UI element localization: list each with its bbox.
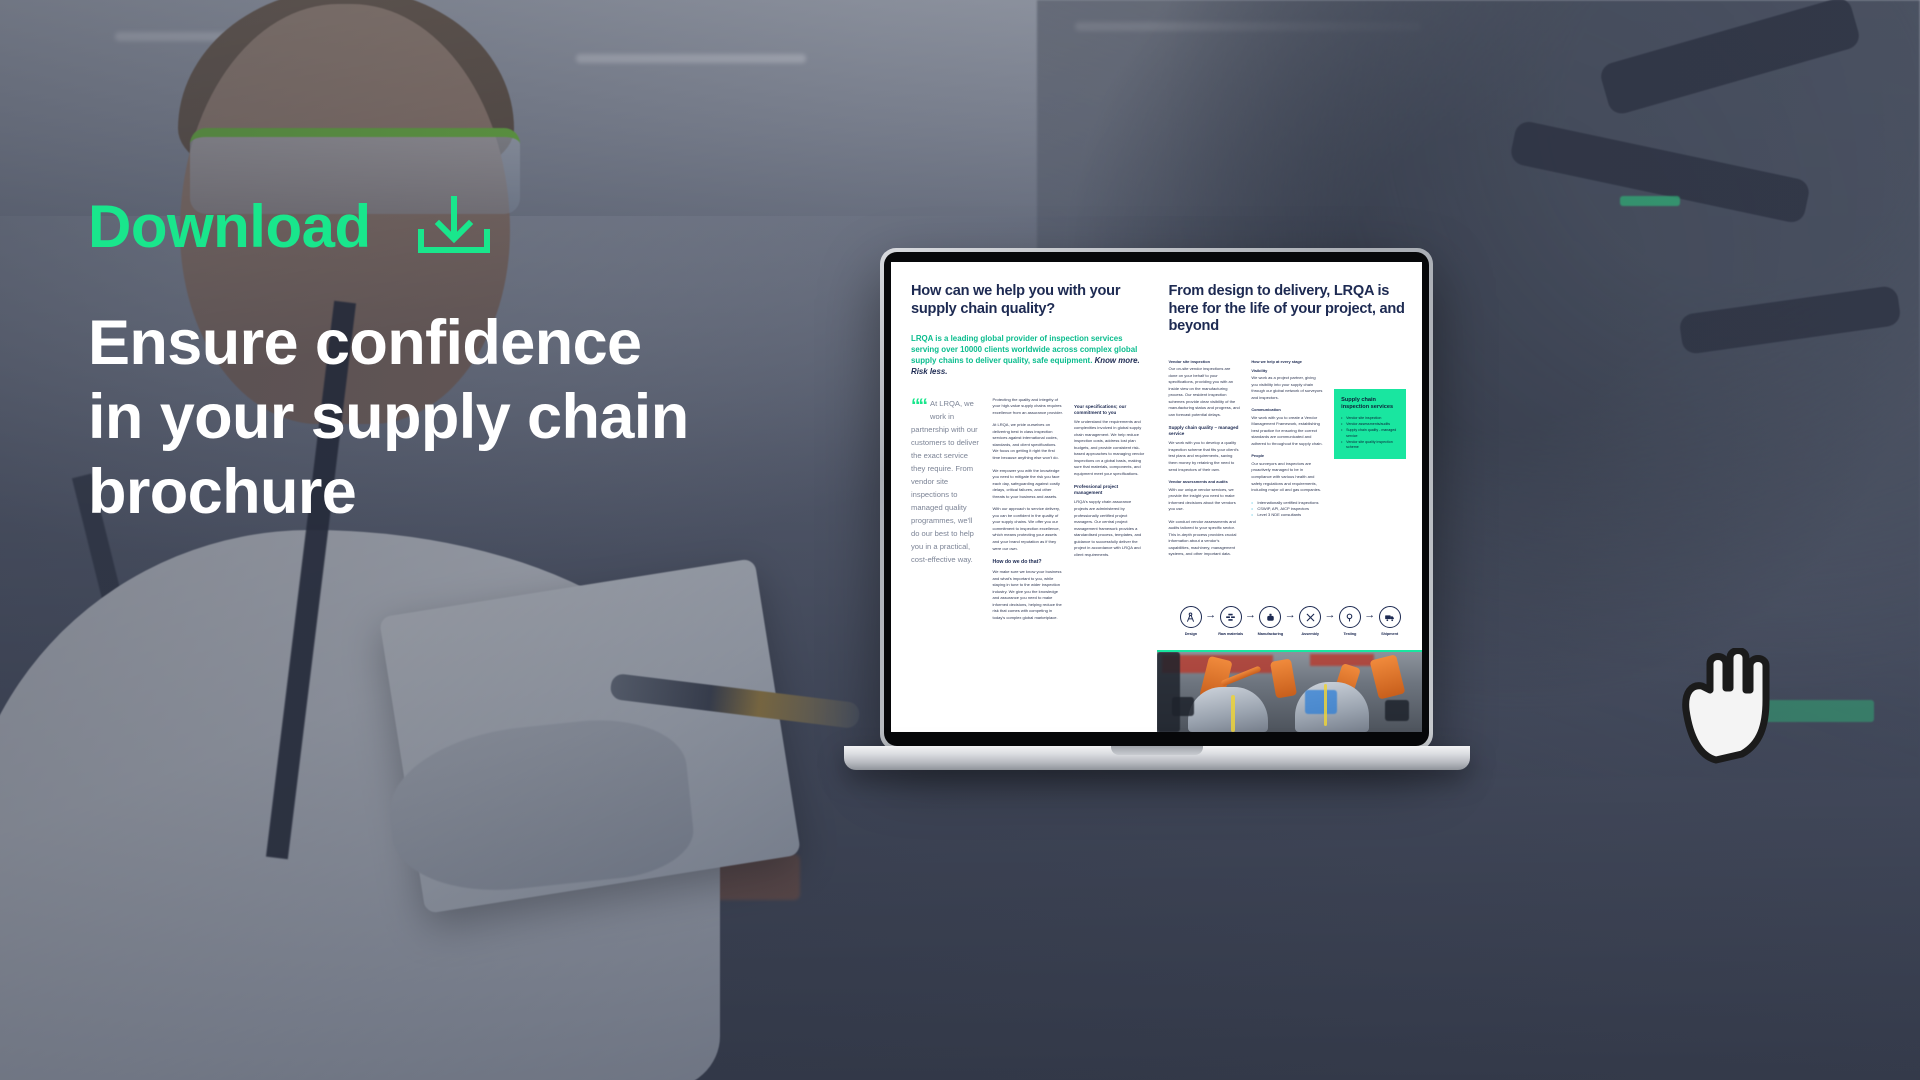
project-management-heading: Professional project management: [1074, 484, 1145, 496]
paragraph: We empower you with the knowledge you ne…: [993, 468, 1064, 501]
section-heading: Supply chain quality – managed service: [1169, 425, 1241, 437]
laptop-base: [844, 746, 1470, 770]
tools-icon: [1299, 606, 1321, 628]
photo-detail: [1231, 695, 1235, 732]
process-label: Assembly: [1292, 631, 1329, 636]
laptop-bezel: How can we help you with your supply cha…: [884, 252, 1429, 746]
paragraph: With our unique vendor services, we prov…: [1169, 487, 1241, 513]
stages-heading: How we help at every stage: [1251, 359, 1323, 364]
brochure-page-left: How can we help you with your supply cha…: [891, 262, 1157, 732]
list-item: Supply chain quality - managed service: [1341, 428, 1399, 440]
process-step-testing: Testing: [1332, 606, 1369, 636]
supply-chain-services-callout: Supply chain inspection services Vendor …: [1334, 389, 1406, 460]
car-body: [1188, 687, 1268, 732]
paragraph: At LRQA, we pride ourselves on deliverin…: [993, 422, 1064, 461]
body-column-1: Protecting the quality and integrity of …: [993, 397, 1064, 628]
vendor-column: Vendor site inspection Our on-site vendo…: [1169, 355, 1241, 565]
left-page-columns: ““At LRQA, we work in partnership with o…: [911, 397, 1145, 628]
photo-detail: [1157, 652, 1181, 732]
paragraph: We understand the requirements and compl…: [1074, 419, 1145, 478]
photo-detail: [1172, 697, 1193, 716]
left-page-lede: LRQA is a leading global provider of ins…: [911, 334, 1145, 378]
compass-icon: [1180, 606, 1202, 628]
process-label: Raw materials: [1212, 631, 1249, 636]
download-row[interactable]: Download: [88, 196, 828, 258]
download-arrow-icon[interactable]: [415, 196, 493, 258]
callout-title: Supply chain inspection services: [1341, 397, 1399, 412]
callout-column: Supply chain inspection services Vendor …: [1334, 355, 1406, 565]
process-label: Shipment: [1371, 631, 1408, 636]
truck-icon: [1379, 606, 1401, 628]
paragraph: We make sure we know your business and w…: [993, 569, 1064, 621]
quote-body: At LRQA, we work in partnership with our…: [911, 399, 979, 565]
magnifier-icon: [1339, 606, 1361, 628]
robot-arm: [1270, 658, 1297, 698]
section-heading: Vendor assessments and audits: [1169, 479, 1241, 484]
paragraph: LRQA's supply chain assurance projects a…: [1074, 499, 1145, 558]
page-title: Ensure confidence in your supply chain b…: [88, 306, 708, 529]
process-label: Manufacturing: [1252, 631, 1289, 636]
machine-icon: [1259, 606, 1281, 628]
laptop-notch: [1111, 746, 1203, 755]
paragraph: Protecting the quality and integrity of …: [993, 397, 1064, 417]
body-column-2: Your specifications; our commitment to y…: [1074, 397, 1145, 628]
pull-quote: ““At LRQA, we work in partnership with o…: [911, 397, 982, 567]
brochure-page-right: From design to delivery, LRQA is here fo…: [1157, 262, 1423, 732]
right-page-title: From design to delivery, LRQA is here fo…: [1169, 283, 1407, 336]
materials-icon: [1220, 606, 1242, 628]
how-heading: How do we do that?: [993, 559, 1064, 566]
process-label: Testing: [1332, 631, 1369, 636]
stage-heading: People: [1251, 453, 1323, 458]
right-page-columns: Vendor site inspection Our on-site vendo…: [1169, 355, 1407, 565]
laptop-mockup: How can we help you with your supply cha…: [880, 248, 1500, 808]
paragraph: We work as a project partner, giving you…: [1251, 375, 1323, 401]
process-step-assembly: Assembly: [1292, 606, 1329, 636]
robot-arm: [1370, 654, 1405, 699]
paragraph: With our approach to service delivery, y…: [993, 506, 1064, 552]
process-flow-row: Design → Raw materials →: [1173, 606, 1409, 636]
process-step-design: Design: [1173, 606, 1210, 636]
paragraph: Our surveyors and inspectors are proacti…: [1251, 461, 1323, 494]
process-label: Design: [1173, 631, 1210, 636]
laptop-screen[interactable]: How can we help you with your supply cha…: [891, 262, 1422, 732]
specifications-heading: Your specifications; our commitment to y…: [1074, 404, 1145, 416]
quote-column: ““At LRQA, we work in partnership with o…: [911, 397, 982, 628]
stage-heading: Communication: [1251, 407, 1323, 412]
quote-mark-icon: ““: [911, 401, 926, 412]
stages-column: How we help at every stage Visibility We…: [1251, 355, 1323, 565]
people-bullet-list: Internationally certified inspections CS…: [1251, 500, 1323, 519]
paragraph: Our on-site vendor inspections are done …: [1169, 366, 1241, 418]
robotic-assembly-line-photo: [1157, 650, 1423, 732]
photo-detail: [1324, 684, 1328, 726]
download-label: Download: [88, 197, 371, 257]
left-page-title: How can we help you with your supply cha…: [911, 283, 1145, 318]
paragraph: We conduct vendor assessments and audits…: [1169, 519, 1241, 558]
stage-heading: Visibility: [1251, 368, 1323, 373]
list-item: Vendor site quality inspection scheme: [1341, 440, 1399, 452]
laptop-lid: How can we help you with your supply cha…: [880, 248, 1433, 750]
paragraph: We work with you to create a Vendor Mana…: [1251, 415, 1323, 448]
section-heading: Vendor site inspection: [1169, 359, 1241, 364]
hero-copy-block: Download Ensure confidence in your suppl…: [88, 196, 828, 529]
list-item: Level 3 NDE consultants: [1251, 512, 1323, 518]
process-step-raw-materials: Raw materials: [1212, 606, 1249, 636]
process-step-shipment: Shipment: [1371, 606, 1408, 636]
callout-list: Vendor site inspection Vendor assessment…: [1341, 416, 1399, 451]
photo-detail: [1385, 700, 1409, 721]
photo-detail: [1305, 690, 1337, 714]
process-step-manufacturing: Manufacturing: [1252, 606, 1289, 636]
paragraph: We work with you to develop a quality in…: [1169, 440, 1241, 473]
pointing-hand-cursor: [1680, 648, 1784, 769]
